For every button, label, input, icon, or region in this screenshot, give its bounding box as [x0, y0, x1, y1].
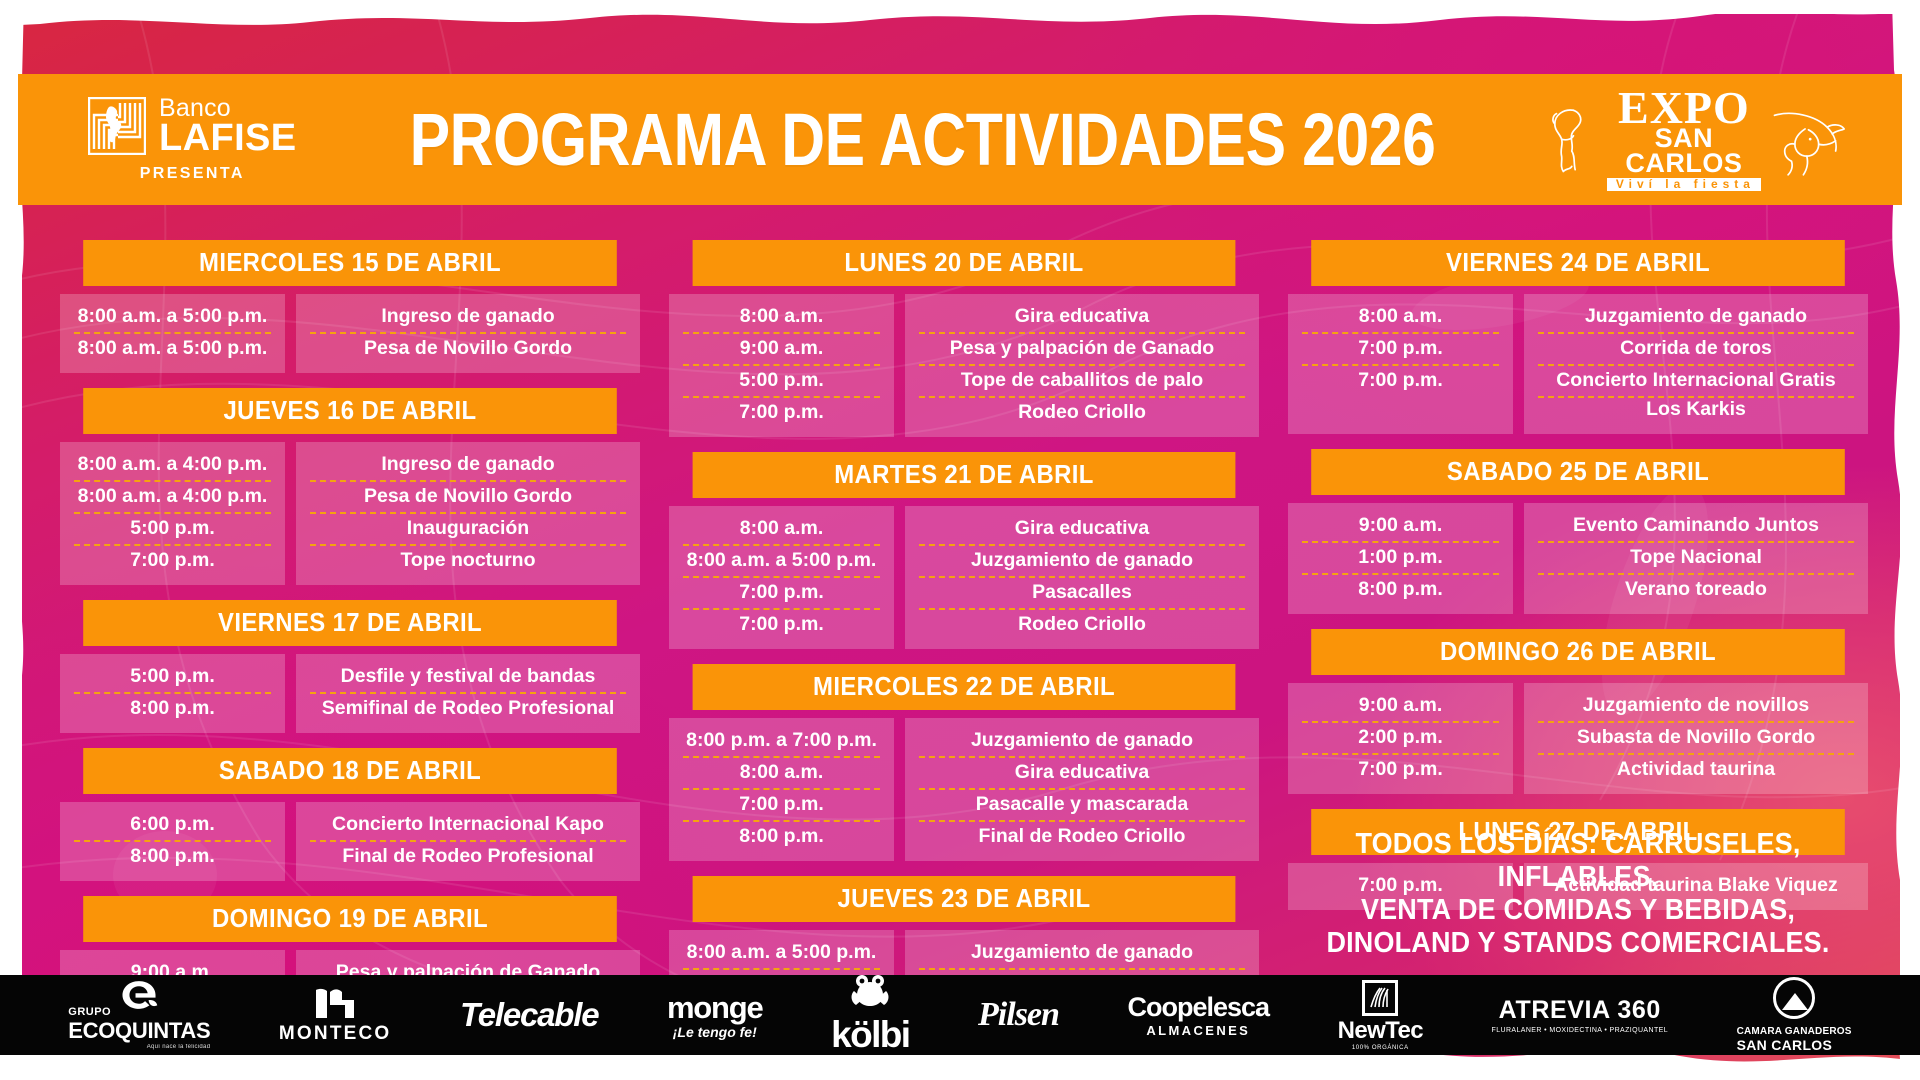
times-cell: 8:00 a.m.9:00 a.m.5:00 p.m.7:00 p.m. — [669, 294, 894, 437]
day-body: 8:00 a.m. a 4:00 p.m.8:00 a.m. a 4:00 p.… — [60, 442, 640, 585]
activity-line: Semifinal de Rodeo Profesional — [310, 694, 626, 724]
times-cell: 8:00 a.m. a 4:00 p.m.8:00 a.m. a 4:00 p.… — [60, 442, 285, 585]
page-title: PROGRAMA DE ACTIVIDADES 2026 — [409, 97, 1435, 182]
monge-tagline: ¡Le tengo fe! — [673, 1024, 757, 1040]
day-body: 8:00 a.m.8:00 a.m. a 5:00 p.m.7:00 p.m.7… — [669, 506, 1259, 649]
horse-outline-icon — [1548, 97, 1602, 183]
time-line: 9:00 a.m. — [683, 334, 880, 366]
sponsor-coopelesca: Coopelesca ALMACENES — [1128, 992, 1270, 1038]
day-block: SABADO 25 DE ABRIL9:00 a.m.1:00 p.m.8:00… — [1288, 449, 1868, 614]
lafise-square-map-icon — [88, 97, 146, 155]
bull-circle-icon — [1773, 977, 1815, 1019]
day-body: 8:00 a.m.7:00 p.m.7:00 p.m.Juzgamiento d… — [1288, 294, 1868, 434]
activities-cell: Concierto Internacional KapoFinal de Rod… — [296, 802, 640, 881]
time-line: 5:00 p.m. — [74, 514, 271, 546]
activities-cell: Juzgamiento de ganadoGira educativaPasac… — [905, 718, 1259, 861]
activity-line: Tope de caballitos de palo — [919, 366, 1245, 398]
activities-cell: Desfile y festival de bandasSemifinal de… — [296, 654, 640, 733]
times-cell: 8:00 p.m. a 7:00 p.m.8:00 a.m.7:00 p.m.8… — [669, 718, 894, 861]
activities-cell: Gira educativaJuzgamiento de ganadoPasac… — [905, 506, 1259, 649]
activity-line: Pasacalle y mascarada — [919, 790, 1245, 822]
activity-line: Pesa y palpación de Ganado — [919, 334, 1245, 366]
sponsor-pilsen: Pilsen — [978, 996, 1059, 1034]
activity-line: Verano toreado — [1538, 575, 1854, 605]
time-line: 7:00 p.m. — [1302, 334, 1499, 366]
day-header: MIERCOLES 22 DE ABRIL — [693, 664, 1236, 710]
day-block: LUNES 20 DE ABRIL8:00 a.m.9:00 a.m.5:00 … — [669, 240, 1259, 437]
schedule-column-1: MIERCOLES 15 DE ABRIL8:00 a.m. a 5:00 p.… — [60, 240, 640, 1061]
times-cell: 8:00 a.m.8:00 a.m. a 5:00 p.m.7:00 p.m.7… — [669, 506, 894, 649]
day-block: JUEVES 16 DE ABRIL8:00 a.m. a 4:00 p.m.8… — [60, 388, 640, 585]
day-header: JUEVES 16 DE ABRIL — [83, 388, 617, 434]
time-line: 7:00 p.m. — [683, 398, 880, 428]
day-header: SABADO 18 DE ABRIL — [83, 748, 617, 794]
camara-line2: SAN CARLOS — [1737, 1037, 1852, 1053]
activity-line: Gira educativa — [919, 758, 1245, 790]
day-header: MIERCOLES 15 DE ABRIL — [83, 240, 617, 286]
activity-line: Tope Nacional — [1538, 543, 1854, 575]
time-line: 7:00 p.m. — [683, 578, 880, 610]
bull-outline-icon — [1766, 97, 1848, 183]
activity-line: Actividad taurina — [1538, 755, 1854, 785]
activities-cell: Evento Caminando JuntosTope NacionalVera… — [1524, 503, 1868, 614]
atrevia-name: ATREVIA 360 — [1499, 996, 1661, 1025]
presenter-logo: Banco LAFISE PRESENTA — [88, 96, 297, 183]
time-line: 9:00 a.m. — [1302, 511, 1499, 543]
torn-edge-right — [1900, 0, 1920, 1080]
time-line: 8:00 a.m. — [683, 514, 880, 546]
activity-line: Juzgamiento de ganado — [919, 546, 1245, 578]
activities-cell: Gira educativaPesa y palpación de Ganado… — [905, 294, 1259, 437]
day-body: 9:00 a.m.1:00 p.m.8:00 p.m.Evento Camina… — [1288, 503, 1868, 614]
newtec-sub: 100% ORGÁNICA — [1352, 1045, 1409, 1051]
times-cell: 9:00 a.m.1:00 p.m.8:00 p.m. — [1288, 503, 1513, 614]
time-line: 8:00 a.m. a 5:00 p.m. — [683, 938, 880, 970]
atrevia-sub: FLURALANER • MOXIDECTINA • PRAZIQUANTEL — [1492, 1027, 1668, 1034]
time-line: 6:00 p.m. — [74, 810, 271, 842]
activity-line: Juzgamiento de ganado — [919, 938, 1245, 970]
time-line: 8:00 a.m. — [1302, 302, 1499, 334]
day-header: DOMINGO 26 DE ABRIL — [1311, 629, 1845, 675]
activity-line: Rodeo Criollo — [919, 610, 1245, 640]
everyday-note-line3: DINOLAND Y STANDS COMERCIALES. — [1318, 927, 1839, 960]
times-cell: 9:00 a.m.2:00 p.m.7:00 p.m. — [1288, 683, 1513, 794]
sponsor-monteco: MONTECO — [279, 986, 392, 1045]
time-line: 8:00 a.m. — [683, 758, 880, 790]
coopelesca-name: Coopelesca — [1128, 992, 1270, 1023]
time-line: 8:00 a.m. a 5:00 p.m. — [683, 546, 880, 578]
presenta-label: PRESENTA — [140, 165, 245, 183]
sponsor-ecoquintas: GRUPO ECOQUINTAS Aquí nace la felicidad — [68, 980, 210, 1050]
day-header: VIERNES 24 DE ABRIL — [1311, 240, 1845, 286]
time-line: 5:00 p.m. — [74, 662, 271, 694]
day-body: 9:00 a.m.2:00 p.m.7:00 p.m.Juzgamiento d… — [1288, 683, 1868, 794]
day-block: VIERNES 24 DE ABRIL8:00 a.m.7:00 p.m.7:0… — [1288, 240, 1868, 434]
day-header: MARTES 21 DE ABRIL — [693, 452, 1236, 498]
times-cell: 5:00 p.m.8:00 p.m. — [60, 654, 285, 733]
monteco-name: MONTECO — [279, 1023, 392, 1045]
newtec-name: NewTec — [1338, 1017, 1423, 1045]
sponsor-newtec: NewTec 100% ORGÁNICA — [1338, 980, 1423, 1051]
activity-line: Final de Rodeo Profesional — [310, 842, 626, 872]
time-line: 5:00 p.m. — [683, 366, 880, 398]
sponsor-atrevia360: ATREVIA 360 FLURALANER • MOXIDECTINA • P… — [1492, 996, 1668, 1034]
time-line: 8:00 a.m. — [683, 302, 880, 334]
times-cell: 8:00 a.m.7:00 p.m.7:00 p.m. — [1288, 294, 1513, 434]
time-line: 2:00 p.m. — [1302, 723, 1499, 755]
expo-san-carlos-logo: EXPO SAN CARLOS Viví la fiesta — [1548, 87, 1848, 192]
time-line: 1:00 p.m. — [1302, 543, 1499, 575]
activity-line: Rodeo Criollo — [919, 398, 1245, 428]
day-header: LUNES 20 DE ABRIL — [693, 240, 1236, 286]
expo-tagline: Viví la fiesta — [1607, 178, 1761, 191]
activity-line: Concierto Internacional Gratis — [1538, 366, 1854, 398]
ecoquintas-leaf-e-icon — [119, 980, 159, 1010]
day-block: VIERNES 17 DE ABRIL5:00 p.m.8:00 p.m.Des… — [60, 600, 640, 733]
day-block: MIERCOLES 22 DE ABRIL8:00 p.m. a 7:00 p.… — [669, 664, 1259, 861]
day-body: 6:00 p.m.8:00 p.m.Concierto Internaciona… — [60, 802, 640, 881]
activity-line: Juzgamiento de novillos — [1538, 691, 1854, 723]
activity-line: Concierto Internacional Kapo — [310, 810, 626, 842]
ecoquintas-line2: ECOQUINTAS — [68, 1018, 210, 1044]
camara-line1: CAMARA GANADEROS — [1737, 1026, 1852, 1037]
schedule-column-3: VIERNES 24 DE ABRIL8:00 a.m.7:00 p.m.7:0… — [1288, 240, 1868, 910]
activity-line: Ingreso de ganado — [310, 450, 626, 482]
time-line: 7:00 p.m. — [74, 546, 271, 576]
activity-line: Inauguración — [310, 514, 626, 546]
day-block: MARTES 21 DE ABRIL8:00 a.m.8:00 a.m. a 5… — [669, 452, 1259, 649]
kolbi-name: kölbi — [831, 1014, 909, 1056]
time-line: 8:00 a.m. a 5:00 p.m. — [74, 334, 271, 364]
time-line: 8:00 p.m. — [683, 822, 880, 852]
day-body: 8:00 a.m. a 5:00 p.m.8:00 a.m. a 5:00 p.… — [60, 294, 640, 373]
day-block: MIERCOLES 15 DE ABRIL8:00 a.m. a 5:00 p.… — [60, 240, 640, 373]
activities-cell: Juzgamiento de novillosSubasta de Novill… — [1524, 683, 1868, 794]
schedule-column-2: LUNES 20 DE ABRIL8:00 a.m.9:00 a.m.5:00 … — [669, 240, 1259, 1070]
day-block: SABADO 18 DE ABRIL6:00 p.m.8:00 p.m.Conc… — [60, 748, 640, 881]
times-cell: 8:00 a.m. a 5:00 p.m.8:00 a.m. a 5:00 p.… — [60, 294, 285, 373]
activity-line: Pesa de Novillo Gordo — [310, 482, 626, 514]
day-body: 5:00 p.m.8:00 p.m.Desfile y festival de … — [60, 654, 640, 733]
sponsor-bar: GRUPO ECOQUINTAS Aquí nace la felicidad … — [0, 975, 1920, 1055]
everyday-note-line2: VENTA DE COMIDAS Y BEBIDAS, — [1318, 894, 1839, 927]
activity-line: Juzgamiento de ganado — [919, 726, 1245, 758]
newtec-box-icon — [1362, 980, 1398, 1016]
time-line: 9:00 a.m. — [1302, 691, 1499, 723]
everyday-note-line1: TODOS LOS DÍAS: CARRUSELES, INFLABLES, — [1318, 828, 1839, 894]
day-header: SABADO 25 DE ABRIL — [1311, 449, 1845, 495]
activity-line: Desfile y festival de bandas — [310, 662, 626, 694]
activity-line: Corrida de toros — [1538, 334, 1854, 366]
day-header: DOMINGO 19 DE ABRIL — [83, 896, 617, 942]
sponsor-kolbi: kölbi — [831, 974, 909, 1056]
activity-line: Ingreso de ganado — [310, 302, 626, 334]
activities-cell: Ingreso de ganadoPesa de Novillo Gordo — [296, 294, 640, 373]
time-line: 7:00 p.m. — [1302, 755, 1499, 785]
monteco-m-icon — [312, 986, 358, 1020]
everyday-note: TODOS LOS DÍAS: CARRUSELES, INFLABLES, V… — [1318, 828, 1839, 960]
activities-cell: Juzgamiento de ganadoCorrida de torosCon… — [1524, 294, 1868, 434]
time-line: 8:00 p.m. — [74, 694, 271, 724]
activity-line: Pesa de Novillo Gordo — [310, 334, 626, 364]
time-line: 8:00 a.m. a 5:00 p.m. — [74, 302, 271, 334]
sponsor-camara-ganaderos: CAMARA GANADEROS SAN CARLOS — [1737, 977, 1852, 1053]
poster-header-band: Banco LAFISE PRESENTA PROGRAMA DE ACTIVI… — [18, 74, 1902, 205]
day-block: DOMINGO 26 DE ABRIL9:00 a.m.2:00 p.m.7:0… — [1288, 629, 1868, 794]
sponsor-telecable: Telecable — [460, 996, 598, 1034]
activities-cell: Ingreso de ganadoPesa de Novillo GordoIn… — [296, 442, 640, 585]
activity-line: Gira educativa — [919, 302, 1245, 334]
activity-line: Los Karkis — [1538, 398, 1854, 425]
coopelesca-sub: ALMACENES — [1146, 1023, 1250, 1038]
time-line: 8:00 p.m. — [74, 842, 271, 872]
torn-edge-top — [0, 0, 1920, 14]
activity-line: Final de Rodeo Criollo — [919, 822, 1245, 852]
time-line: 8:00 p.m. a 7:00 p.m. — [683, 726, 880, 758]
lafise-name-line2: LAFISE — [159, 120, 297, 156]
monge-name: monge — [667, 990, 763, 1026]
day-body: 8:00 a.m.9:00 a.m.5:00 p.m.7:00 p.m.Gira… — [669, 294, 1259, 437]
time-line: 8:00 a.m. a 4:00 p.m. — [74, 482, 271, 514]
activity-line: Gira educativa — [919, 514, 1245, 546]
time-line: 7:00 p.m. — [1302, 366, 1499, 396]
time-line: 8:00 p.m. — [1302, 575, 1499, 605]
time-line: 8:00 a.m. a 4:00 p.m. — [74, 450, 271, 482]
activity-line: Tope nocturno — [310, 546, 626, 576]
activity-line: Subasta de Novillo Gordo — [1538, 723, 1854, 755]
activity-line: Pasacalles — [919, 578, 1245, 610]
activity-line: Juzgamiento de ganado — [1538, 302, 1854, 334]
day-header: VIERNES 17 DE ABRIL — [83, 600, 617, 646]
activity-line: Evento Caminando Juntos — [1538, 511, 1854, 543]
expo-line2: SAN CARLOS — [1606, 126, 1762, 176]
time-line: 7:00 p.m. — [683, 610, 880, 640]
kolbi-frog-icon — [850, 974, 890, 1008]
sponsor-monge: monge ¡Le tengo fe! — [667, 990, 763, 1040]
time-line: 7:00 p.m. — [683, 790, 880, 822]
day-body: 8:00 p.m. a 7:00 p.m.8:00 a.m.7:00 p.m.8… — [669, 718, 1259, 861]
day-header: JUEVES 23 DE ABRIL — [693, 876, 1236, 922]
ecoquintas-line3: Aquí nace la felicidad — [147, 1044, 211, 1050]
times-cell: 6:00 p.m.8:00 p.m. — [60, 802, 285, 881]
ecoquintas-line1: GRUPO — [68, 1006, 111, 1018]
